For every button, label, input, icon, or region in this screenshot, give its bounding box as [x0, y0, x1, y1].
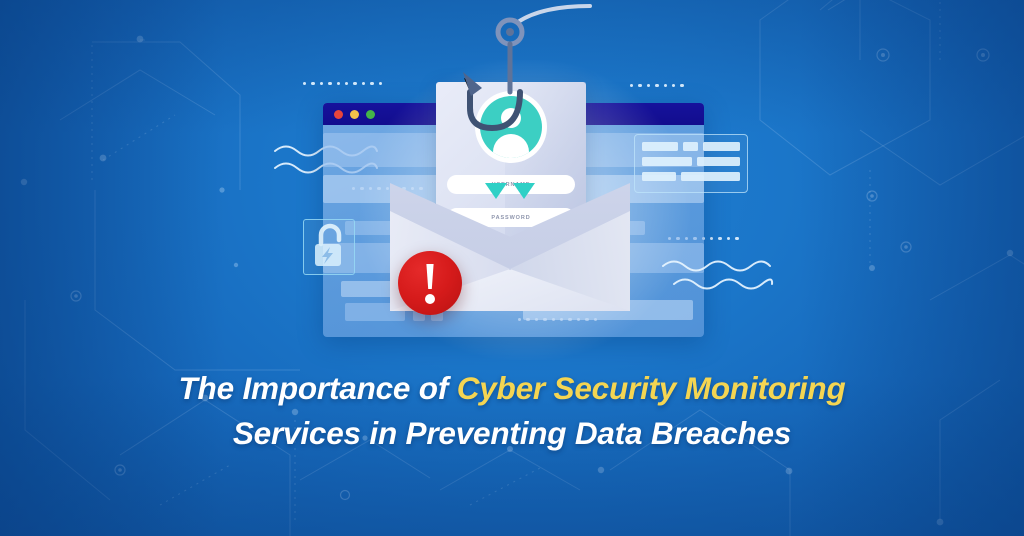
data-table-card: [634, 134, 748, 193]
headline-line-2: Services in Preventing Data Breaches: [0, 411, 1024, 456]
maximize-dot-icon[interactable]: [366, 110, 375, 119]
envelope-teal-accent-left: [485, 183, 507, 199]
headline-prefix: The Importance of: [179, 370, 457, 406]
dot-row-top-right: [630, 84, 684, 87]
minimize-dot-icon[interactable]: [350, 110, 359, 119]
envelope-teal-accent-right: [513, 183, 535, 199]
fishing-hook-icon: [462, 0, 592, 180]
headline-highlight: Cyber Security Monitoring: [457, 370, 846, 406]
alert-exclamation-icon: [398, 251, 462, 315]
dot-row-top-left: [303, 82, 382, 85]
table-row: [642, 142, 740, 151]
cyber-security-banner: USERNAME PASSWORD: [0, 0, 1024, 536]
unlocked-padlock-icon: [303, 219, 355, 275]
table-row: [642, 157, 740, 166]
table-row: [642, 172, 740, 181]
headline-line-1: The Importance of Cyber Security Monitor…: [0, 366, 1024, 411]
wave-decoration-right: [660, 255, 775, 295]
page-title: The Importance of Cyber Security Monitor…: [0, 366, 1024, 456]
close-dot-icon[interactable]: [334, 110, 343, 119]
